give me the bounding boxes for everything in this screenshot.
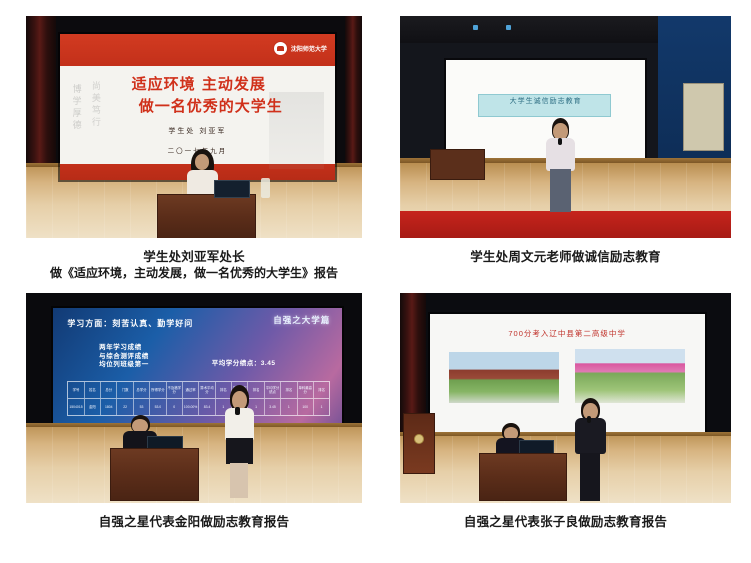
legs-icon — [230, 463, 248, 498]
table-cell: 1 — [281, 399, 297, 415]
campus-photo-right — [575, 349, 685, 403]
photo-3-caption: 自强之星代表金阳做励志教育报告 — [26, 503, 362, 530]
campus-photo-left — [449, 352, 559, 404]
photo-4-image: 700分考入辽中县第二高级中学 — [400, 293, 731, 503]
podium-3 — [110, 448, 199, 500]
slide-body-line: 与综合测评成绩 — [99, 353, 149, 360]
table-cell: 83.4 — [199, 399, 215, 415]
microphone-icon — [558, 138, 562, 146]
table-cell: 53.0 — [150, 399, 166, 415]
microphone-icon — [587, 416, 592, 423]
slide-presenter: 学生处 刘亚军 — [60, 126, 336, 136]
slide-badge-3: 自强之大学篇 — [273, 314, 330, 326]
speaker-2 — [542, 118, 578, 216]
table-cell: 22 — [117, 399, 133, 415]
stage-box-prop — [430, 149, 485, 180]
speaker-3 — [221, 385, 258, 503]
table-header-cell: 总学分 — [134, 382, 150, 398]
table-cell: 53 — [134, 399, 150, 415]
auditorium-scene-2: 大学生诚信励志教育 — [400, 16, 731, 238]
caption-line: 做《适应环境，主动发展，做一名优秀的大学生》报告 — [26, 265, 362, 282]
table-header-cell: 排名 — [281, 382, 297, 398]
crest-icon — [414, 434, 424, 444]
legs-icon — [580, 453, 600, 501]
table-cell: 1804 — [101, 399, 117, 415]
caption-line: 自强之星代表张子良做励志教育报告 — [400, 513, 731, 530]
slide-body-line: 均位列班级第一 — [99, 361, 149, 368]
table-header-cell: 通过率 — [183, 382, 199, 398]
table-cell: 金阳 — [85, 399, 101, 415]
slide-title-line-1: 适应环境 主动发展 — [76, 73, 321, 94]
university-seal-icon — [273, 41, 288, 56]
table-row: 1504015金阳1804225353.00100.00%83.4185.713… — [68, 398, 329, 415]
podium-1 — [157, 194, 256, 238]
slide-title-1: 适应环境 主动发展 做一名优秀的大学生 — [76, 73, 321, 116]
caption-line: 学生处周文元老师做诚信励志教育 — [400, 248, 731, 265]
table-header-cell: 单科最高分 — [298, 382, 314, 398]
slide-title-2: 大学生诚信励志教育 — [446, 96, 645, 106]
photo-2-caption: 学生处周文元老师做诚信励志教育 — [400, 238, 731, 265]
photo-cell-4: 700分考入辽中县第二高级中学 — [400, 293, 731, 530]
stage-edge — [400, 432, 731, 436]
legs-icon — [550, 169, 570, 212]
skirt-icon — [226, 438, 253, 464]
slide-heading-3: 学习方面：刻苦认真、勤学好问 — [67, 318, 193, 329]
slide-body-line: 两年学习成绩 — [99, 344, 142, 351]
stage-light-icon — [473, 25, 478, 30]
table-cell: 100.00% — [183, 399, 199, 415]
table-cell: 1504015 — [68, 399, 84, 415]
photo-4-caption: 自强之星代表张子良做励志教育报告 — [400, 503, 731, 530]
table-header-cell: 所得学分 — [150, 382, 166, 398]
photo-1-image: 沈阳师范大学 博学厚德 尚美笃行 适应环境 主动发展 做一名优秀的大学生 学生处… — [26, 16, 362, 238]
slide-title-line-2: 做一名优秀的大学生 — [76, 95, 321, 116]
auditorium-scene-4: 700分考入辽中县第二高级中学 — [400, 293, 731, 503]
slide-gpa-3: 平均学分绩点：3.45 — [212, 357, 276, 367]
table-header-cell: 算术平均分 — [199, 382, 215, 398]
presentation-screen-4: 700分考入辽中县第二高级中学 — [430, 314, 705, 432]
university-logo-text: 沈阳师范大学 — [291, 44, 327, 53]
table-header-cell: 不及格学分 — [167, 382, 183, 398]
photo-cell-2: 大学生诚信励志教育 学生处周文元老师做诚信励志教育 — [400, 16, 731, 265]
table-header-cell: 姓名 — [85, 382, 101, 398]
table-header-cell: 学号 — [68, 382, 84, 398]
photo-2-image: 大学生诚信励志教育 — [400, 16, 731, 238]
laptop-icon — [214, 180, 250, 198]
table-cell: 100 — [298, 399, 314, 415]
caption-line: 自强之星代表金阳做励志教育报告 — [26, 513, 362, 530]
table-header-cell: 排名 — [314, 382, 329, 398]
microphone-icon — [235, 407, 240, 415]
auditorium-scene-1: 沈阳师范大学 博学厚德 尚美笃行 适应环境 主动发展 做一名优秀的大学生 学生处… — [26, 16, 362, 238]
wall-panel — [683, 83, 725, 152]
caption-line: 学生处刘亚军处长 — [26, 248, 362, 265]
table-header-cell: 总分 — [101, 382, 117, 398]
torso-icon — [575, 418, 606, 454]
side-podium — [403, 413, 435, 474]
water-bottle-icon — [261, 178, 269, 198]
slide-body-3: 两年学习成绩 与综合测评成绩 均位列班级第一 — [99, 344, 149, 370]
photo-cell-3: 学习方面：刻苦认真、勤学好问 自强之大学篇 两年学习成绩 与综合测评成绩 均位列… — [26, 293, 362, 530]
speaker-4 — [572, 398, 608, 503]
university-logo: 沈阳师范大学 — [273, 41, 327, 56]
table-cell: 0 — [167, 399, 183, 415]
photo-3-image: 学习方面：刻苦认真、勤学好问 自强之大学篇 两年学习成绩 与综合测评成绩 均位列… — [26, 293, 362, 503]
photo-grid: 沈阳师范大学 博学厚德 尚美笃行 适应环境 主动发展 做一名优秀的大学生 学生处… — [0, 0, 751, 563]
stage-edge — [26, 423, 362, 427]
table-cell: 3.45 — [265, 399, 281, 415]
slide-data-table: 学号姓名总分门数总学分所得学分不及格学分通过率算术平均分排名学分加权平均分排名平… — [67, 381, 330, 417]
table-header-cell: 平均学分绩点 — [265, 382, 281, 398]
stage-light-icon — [506, 25, 511, 30]
auditorium-scene-3: 学习方面：刻苦认真、勤学好问 自强之大学篇 两年学习成绩 与综合测评成绩 均位列… — [26, 293, 362, 503]
presentation-screen-3: 学习方面：刻苦认真、勤学好问 自强之大学篇 两年学习成绩 与综合测评成绩 均位列… — [53, 308, 342, 438]
table-cell: 1 — [314, 399, 329, 415]
podium-4 — [479, 453, 567, 501]
table-header-cell: 门数 — [117, 382, 133, 398]
photo-1-caption: 学生处刘亚军处长 做《适应环境，主动发展，做一名优秀的大学生》报告 — [26, 238, 362, 282]
slide-title-4: 700分考入辽中县第二高级中学 — [430, 328, 705, 339]
photo-cell-1: 沈阳师范大学 博学厚德 尚美笃行 适应环境 主动发展 做一名优秀的大学生 学生处… — [26, 16, 362, 282]
table-header-row: 学号姓名总分门数总学分所得学分不及格学分通过率算术平均分排名学分加权平均分排名平… — [68, 382, 329, 398]
